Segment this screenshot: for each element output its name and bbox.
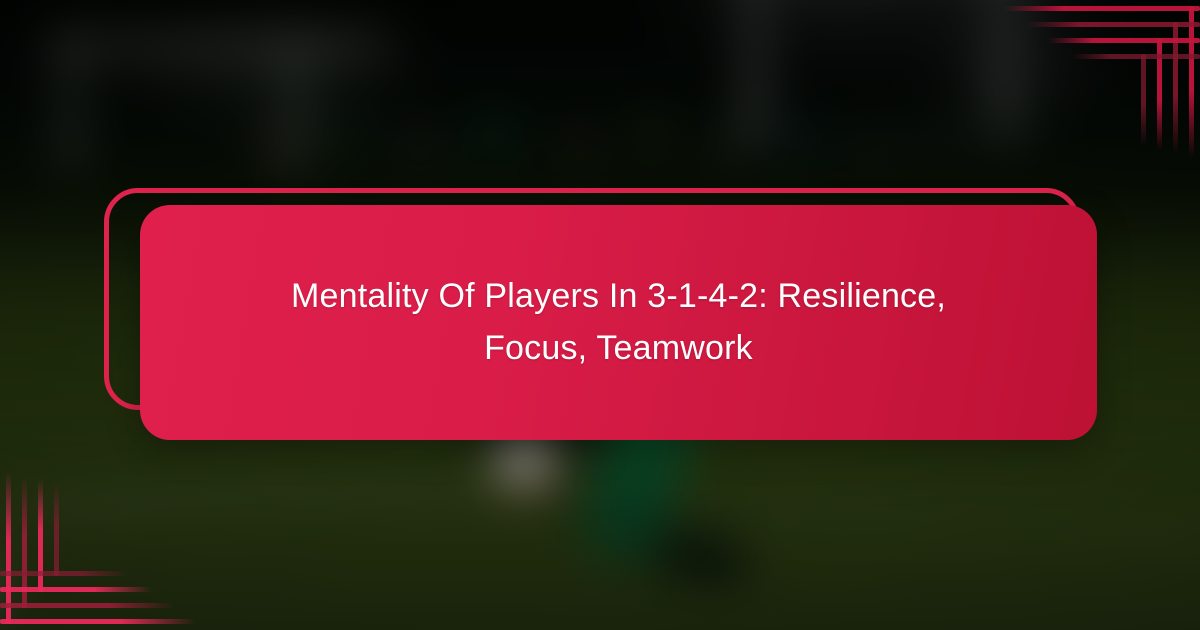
share-card-canvas: Mentality Of Players In 3-1-4-2: Resilie… xyxy=(0,0,1200,630)
page-title: Mentality Of Players In 3-1-4-2: Resilie… xyxy=(215,271,1023,374)
title-card: Mentality Of Players In 3-1-4-2: Resilie… xyxy=(140,205,1097,440)
